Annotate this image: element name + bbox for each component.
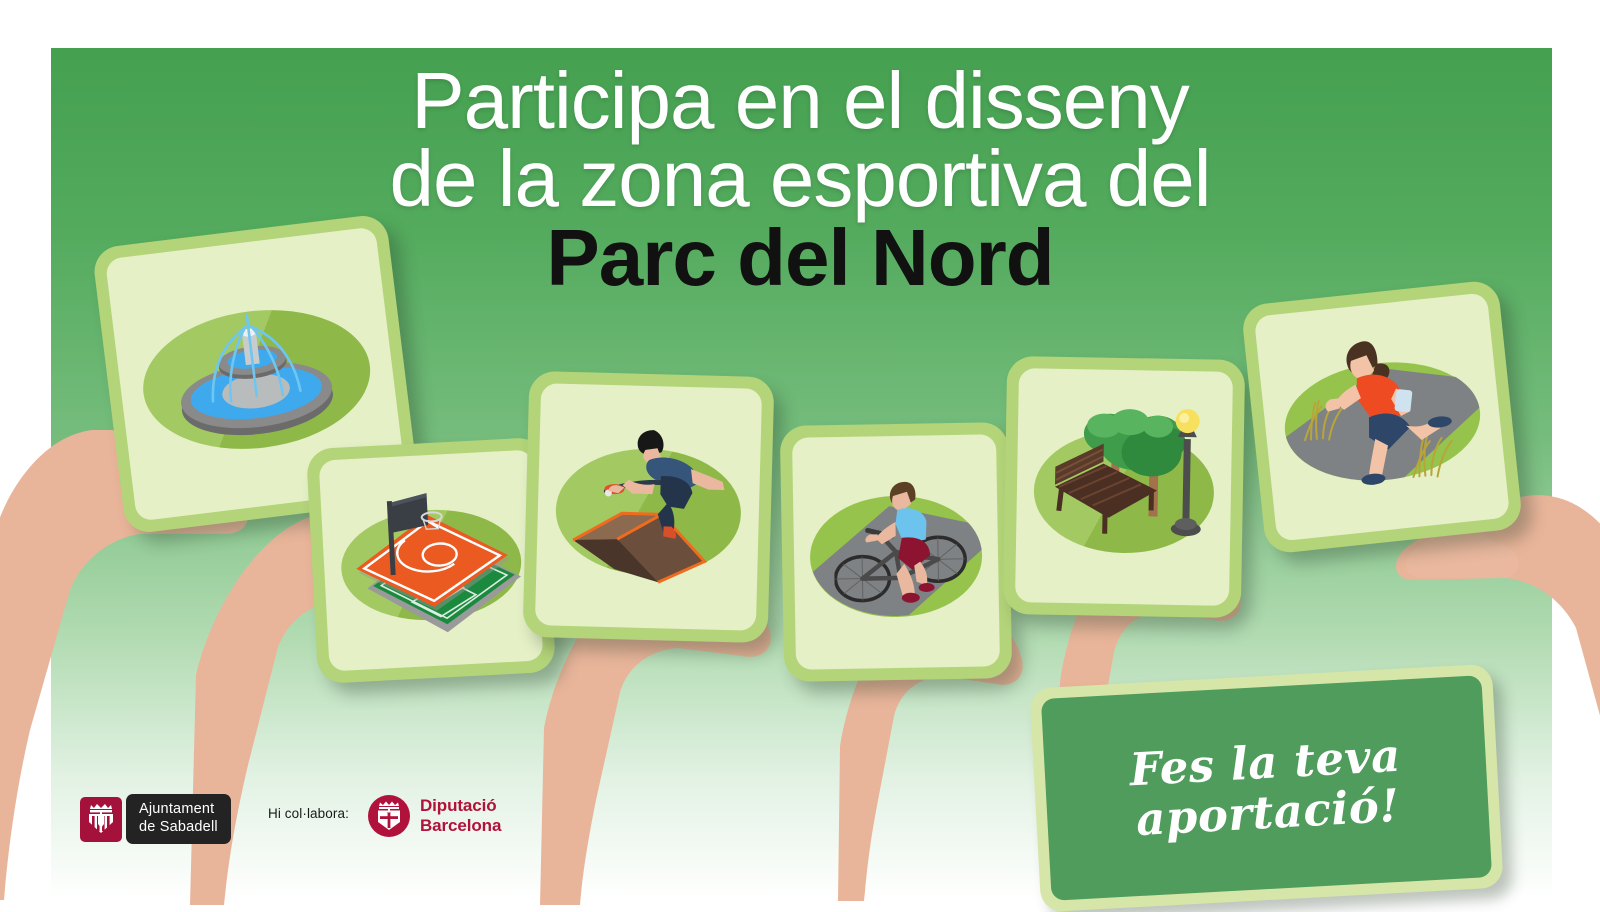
ajuntament-logo[interactable]: Ajuntament de Sabadell (80, 794, 231, 844)
diputacio-line-2: Barcelona (420, 816, 501, 836)
card-bike-path-inner (792, 434, 1000, 670)
ajuntament-line-2: de Sabadell (139, 819, 218, 837)
bench-trees-scene (1015, 368, 1233, 606)
cyclist-icon (833, 477, 976, 629)
sports-court-icon (330, 468, 539, 658)
runner-icon (1315, 326, 1470, 490)
fountain-icon (157, 282, 349, 452)
card-skatepark[interactable] (523, 371, 775, 643)
diputacio-logo[interactable]: Diputació Barcelona (368, 795, 501, 837)
card-sports-court[interactable] (306, 437, 556, 684)
card-bench-trees-inner (1015, 368, 1233, 606)
card-running[interactable] (1241, 279, 1524, 555)
card-bike-path[interactable] (780, 422, 1012, 682)
card-running-inner (1254, 292, 1510, 541)
sports-court-scene (319, 450, 544, 672)
skatepark-scene (535, 383, 762, 631)
diputacio-name: Diputació Barcelona (420, 796, 501, 836)
bike-path-scene (792, 434, 1000, 670)
sabadell-crest-icon (80, 797, 122, 842)
ajuntament-line-1: Ajuntament (139, 801, 218, 819)
footer-logos: Ajuntament de Sabadell Hi col·labora: (0, 780, 1600, 860)
running-scene (1254, 292, 1510, 541)
card-skatepark-inner (535, 383, 762, 631)
collaborator-label-wrap: Hi col·labora: (268, 806, 349, 821)
diputacio-crest-icon (368, 795, 410, 837)
ajuntament-name-box: Ajuntament de Sabadell (126, 794, 231, 844)
card-bench-trees[interactable] (1003, 356, 1245, 618)
skateboarder-icon (554, 408, 749, 603)
collaborator-label: Hi col·labora: (268, 806, 349, 821)
poster-canvas: Participa en el disseny de la zona espor… (0, 0, 1600, 900)
card-sports-court-inner (319, 450, 544, 672)
diputacio-line-1: Diputació (420, 796, 501, 816)
park-bench-icon (1023, 380, 1226, 583)
